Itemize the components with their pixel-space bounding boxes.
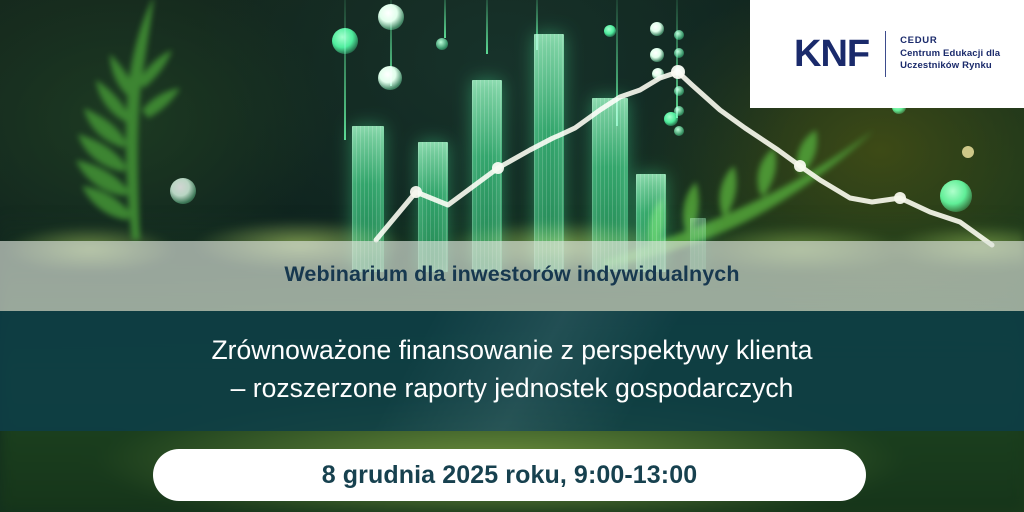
event-date-text: 8 grudnia 2025 roku, 9:00-13:00 [322, 461, 698, 490]
webinar-banner: KNF CEDUR Centrum Edukacji dla Uczestnik… [0, 0, 1024, 512]
knf-wordmark: KNF [794, 35, 869, 73]
logo-divider [885, 31, 886, 77]
logo-subtitle-line-2: Uczestników Rynku [900, 60, 1000, 73]
event-date-pill: 8 grudnia 2025 roku, 9:00-13:00 [153, 449, 866, 501]
event-title-line-2: – rozszerzone raporty jednostek gospodar… [0, 370, 1024, 408]
logo-subtitle-line-1: Centrum Edukacji dla [900, 48, 1000, 61]
event-title-line-1: Zrównoważone finansowanie z perspektywy … [0, 332, 1024, 370]
logo-subtitle-block: CEDUR Centrum Edukacji dla Uczestników R… [900, 35, 1000, 73]
logo-cedur-label: CEDUR [900, 35, 1000, 48]
knf-cedur-logo: KNF CEDUR Centrum Edukacji dla Uczestnik… [750, 0, 1024, 108]
event-title: Zrównoważone finansowanie z perspektywy … [0, 332, 1024, 407]
event-kicker: Webinarium dla inwestorów indywidualnych [0, 262, 1024, 287]
